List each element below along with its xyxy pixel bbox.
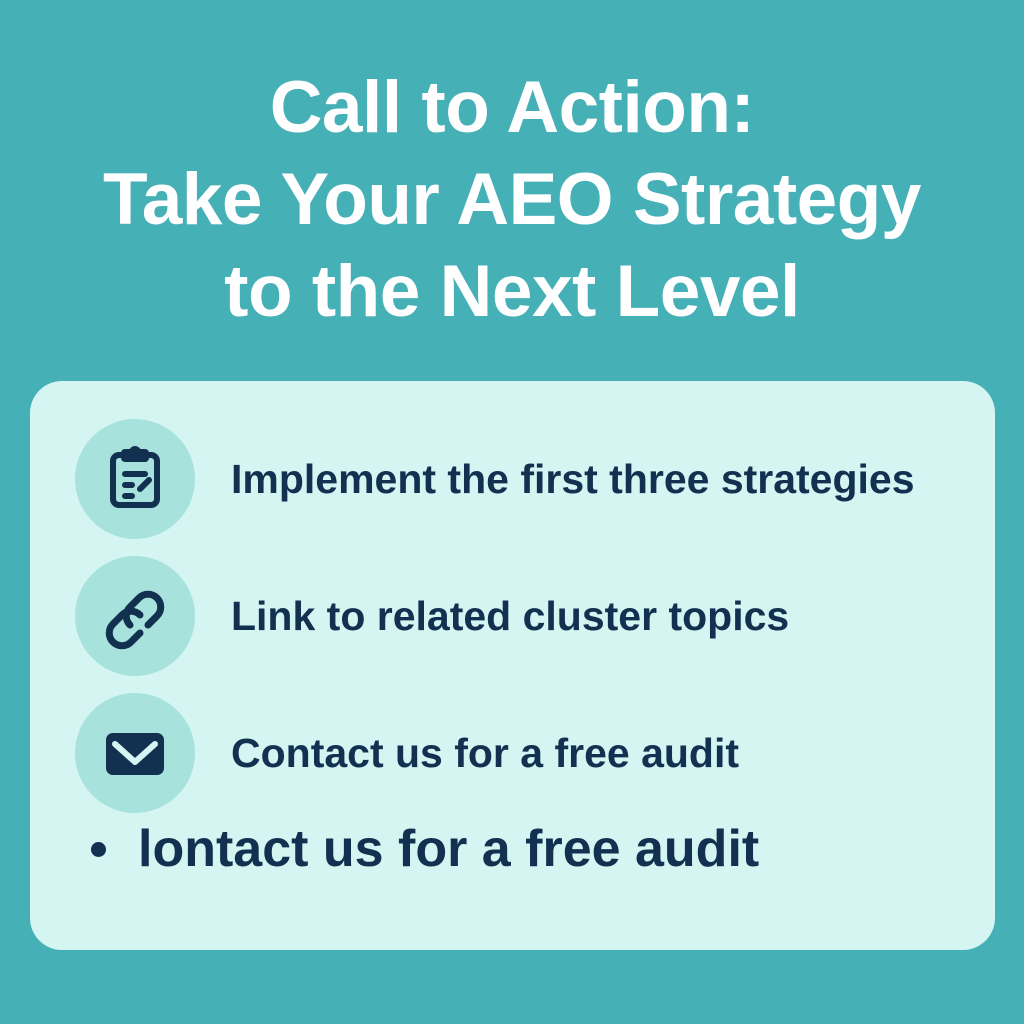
list-item-label: lontact us for a free audit	[138, 819, 759, 879]
clipboard-check-icon	[75, 419, 195, 539]
list-item[interactable]: Contact us for a free audit	[75, 684, 975, 821]
envelope-icon	[75, 693, 195, 813]
title-line-1: Call to Action:	[0, 62, 1024, 154]
action-bullet-list: lontact us for a free audit	[75, 819, 975, 879]
bullet-dot-icon	[91, 842, 106, 857]
action-icon-list: Implement the first three strategies Lin…	[75, 410, 975, 821]
link-chain-icon	[75, 556, 195, 676]
list-item[interactable]: lontact us for a free audit	[75, 819, 975, 879]
content-card: Implement the first three strategies Lin…	[30, 381, 995, 950]
list-item[interactable]: Link to related cluster topics	[75, 547, 975, 684]
title-line-2: Take Your AEO Strategy	[0, 154, 1024, 246]
title-line-3: to the Next Level	[0, 246, 1024, 338]
list-item-label: Implement the first three strategies	[231, 455, 915, 503]
list-item-label: Contact us for a free audit	[231, 729, 739, 777]
list-item-label: Link to related cluster topics	[231, 592, 789, 640]
page-title: Call to Action: Take Your AEO Strategy t…	[0, 62, 1024, 338]
list-item[interactable]: Implement the first three strategies	[75, 410, 975, 547]
